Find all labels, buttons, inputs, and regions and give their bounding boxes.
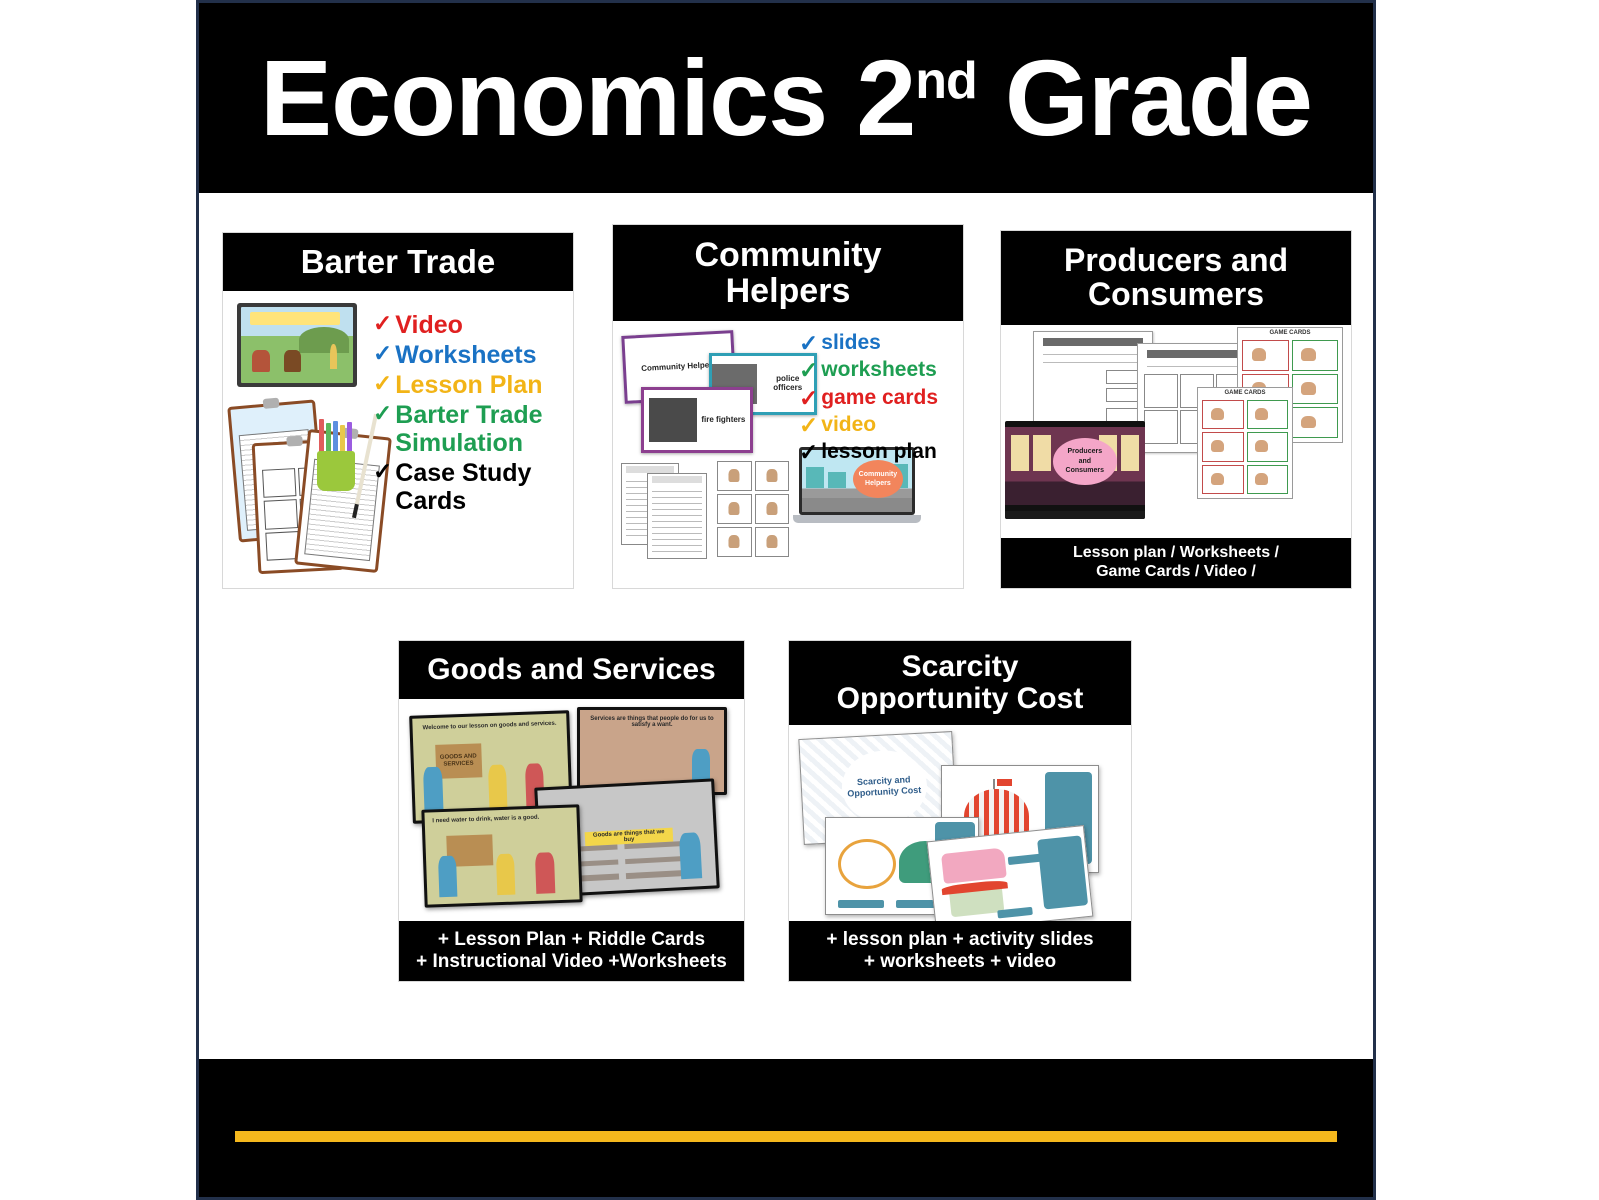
board-text: GOODS AND SERVICES [435,753,482,768]
horse-icon [252,350,270,373]
video-label-line: Consumers [1066,466,1105,475]
title-superscript: nd [915,52,977,110]
footer-line: Lesson plan / Worksheets / [1073,544,1279,563]
card-title-line: Scarcity [902,651,1019,683]
game-card [755,494,790,524]
title-main: Economics 2 [260,37,915,158]
cover-text: Scarcity and Opportunity Cost [841,774,927,800]
cover-footer [199,1059,1373,1197]
check-icon: ✓ [799,413,818,438]
footer-line: Game Cards / Video / [1096,563,1256,582]
feature-item: ✓Video [373,311,569,339]
feature-item: ✓Case Study Cards [373,459,569,515]
student-figure [488,764,508,809]
check-icon: ✓ [373,401,392,426]
game-cards-panel: GAME CARDS [1197,387,1293,499]
slide-caption: Services are things that people do for u… [589,716,716,728]
card-title-line: Producers and [1064,244,1288,278]
feature-label: Lesson Plan [395,371,542,399]
game-card [1202,432,1244,461]
footer-line: + worksheets + video [864,951,1056,973]
card-title-line: Opportunity Cost [837,683,1084,715]
feature-label: Video [395,311,463,339]
title-tail: Grade [1005,37,1312,158]
game-card [1247,432,1289,461]
product-card-community-helpers[interactable]: Community Helpers Community Helpers poli… [613,225,963,588]
worksheet-thumbnail [1033,331,1153,429]
footer-line: + Lesson Plan + Riddle Cards [438,929,705,951]
cover-circle: Scarcity and Opportunity Cost [840,748,929,825]
card-body-goods: Welcome to our lesson on goods and servi… [399,699,744,921]
gamecards-heading: GAME CARDS [1238,330,1342,336]
game-card [1292,407,1339,438]
ferris-wheel-icon [838,839,896,889]
video-progress-bar[interactable] [1005,511,1145,519]
laptop-label-line: Helpers [865,479,891,488]
game-card [1247,465,1289,494]
card-title-producers: Producers and Consumers [1001,231,1351,325]
feature-list-barter: ✓Video ✓Worksheets ✓Lesson Plan ✓Barter … [373,311,569,517]
card-footer-goods: + Lesson Plan + Riddle Cards + Instructi… [399,921,744,981]
page-title: Economics 2ndGrade [260,44,1312,152]
feature-label: Case Study Cards [395,459,569,515]
feature-label: slides [821,331,881,355]
feature-item: ✓slides [799,331,963,356]
product-card-producers-consumers[interactable]: Producers and Consumers [1001,231,1351,588]
product-card-goods-services[interactable]: Goods and Services Welcome to our lesson… [399,641,744,981]
product-cover: Economics 2ndGrade Barter Trade [196,0,1376,1200]
feature-item: ✓worksheets [799,358,963,383]
ice-cream-truck-icon [941,847,1006,884]
cover-body: Barter Trade [199,193,1373,1065]
hill-shape [299,327,348,353]
feature-label: video [821,413,876,437]
game-card [755,461,790,491]
game-card [1202,400,1244,429]
gold-accent-bar [235,1131,1337,1142]
game-card [717,461,752,491]
product-card-scarcity-opportunity-cost[interactable]: Scarcity Opportunity Cost Scarcity and O… [789,641,1131,981]
product-card-barter-trade[interactable]: Barter Trade [223,233,573,588]
game-card [1292,340,1339,371]
slide-caption: Welcome to our lesson on goods and servi… [422,721,558,732]
teacher-figure [438,856,458,897]
card-title-line: Community [695,237,882,273]
feature-item: ✓video [799,413,963,438]
slide-preview-food [927,825,1094,921]
game-card [1242,340,1289,371]
card-title-line: Consumers [1088,278,1264,312]
feature-label: lesson plan [821,440,937,464]
check-icon: ✓ [373,459,392,484]
question-panel [1037,835,1088,909]
teacher-figure [423,767,443,812]
video-label-line: Producers [1067,447,1102,456]
feature-item: ✓Lesson Plan [373,371,569,399]
person-figure [330,344,338,370]
card-body-barter: ✓Video ✓Worksheets ✓Lesson Plan ✓Barter … [223,291,573,588]
slide-preview: I need water to drink, water is a good. [421,804,582,907]
game-card [717,527,752,557]
item-label [1008,854,1043,866]
feature-item: ✓game cards [799,386,963,411]
feature-item: ✓Barter Trade Simulation [373,401,569,457]
card-footer-producers: Lesson plan / Worksheets / Game Cards / … [1001,538,1351,588]
slide-caption: I need water to drink, water is a good. [432,814,566,825]
check-icon: ✓ [799,440,818,465]
feature-label: Barter Trade Simulation [395,401,569,457]
feature-item: ✓Worksheets [373,341,569,369]
game-card [755,527,790,557]
student-figure [496,854,516,895]
card-title-helpers: Community Helpers [613,225,963,321]
card-title-line: Helpers [726,273,851,309]
feature-list-helpers: ✓slides ✓worksheets ✓game cards ✓video ✓… [799,331,963,467]
video-caption-bar [250,312,340,326]
check-icon: ✓ [799,386,818,411]
projector-screen-graphic [237,303,357,387]
video-label-line: and [1079,457,1091,466]
horse-icon [284,350,302,373]
game-card [1292,374,1339,405]
feature-label: worksheets [821,358,937,382]
card-title-goods: Goods and Services [399,641,744,699]
cover-header: Economics 2ndGrade [199,3,1373,193]
feature-label: game cards [821,386,938,410]
worksheet-thumbnail [647,473,707,559]
slide-thumbnail: fire fighters [641,387,753,453]
game-card [1247,400,1289,429]
slide-thumbnail-label: Community Helpers [641,361,717,374]
teacher-figure [679,832,702,879]
footer-line: + lesson plan + activity slides [826,929,1093,951]
card-footer-scarcity: + lesson plan + activity slides + worksh… [789,921,1131,981]
card-title-scarcity: Scarcity Opportunity Cost [789,641,1131,725]
pencil-cup-icon [317,451,355,491]
laptop-label-line: Community [859,470,898,479]
game-cards-grid [717,461,789,557]
feature-label: Worksheets [395,341,536,369]
check-icon: ✓ [799,331,818,356]
ride-label [838,900,884,909]
classroom-board: GOODS AND SERVICES [435,743,482,779]
card-body-producers: GAME CARDS GAME CARDS [1001,325,1351,538]
photo-firefighters [649,398,698,441]
card-title-barter: Barter Trade [223,233,573,291]
game-card [717,494,752,524]
video-title-blob: Producers and Consumers [1053,438,1117,485]
feature-item: ✓lesson plan [799,440,963,465]
check-icon: ✓ [373,311,392,336]
pencils-icon [319,419,353,455]
student-figure [535,852,555,893]
gamecards-heading: GAME CARDS [1198,390,1292,396]
check-icon: ✓ [799,358,818,383]
footer-line: + Instructional Video +Worksheets [416,951,727,973]
card-body-helpers: Community Helpers police officers fire f… [613,321,963,588]
card-body-scarcity: Scarcity and Opportunity Cost [789,725,1131,921]
check-icon: ✓ [373,341,392,366]
game-card [1202,465,1244,494]
video-preview-producers: Producers and Consumers [1005,421,1145,519]
check-icon: ✓ [373,371,392,396]
flag-icon [997,779,1013,786]
slide-thumbnail-label: fire fighters [701,416,745,425]
